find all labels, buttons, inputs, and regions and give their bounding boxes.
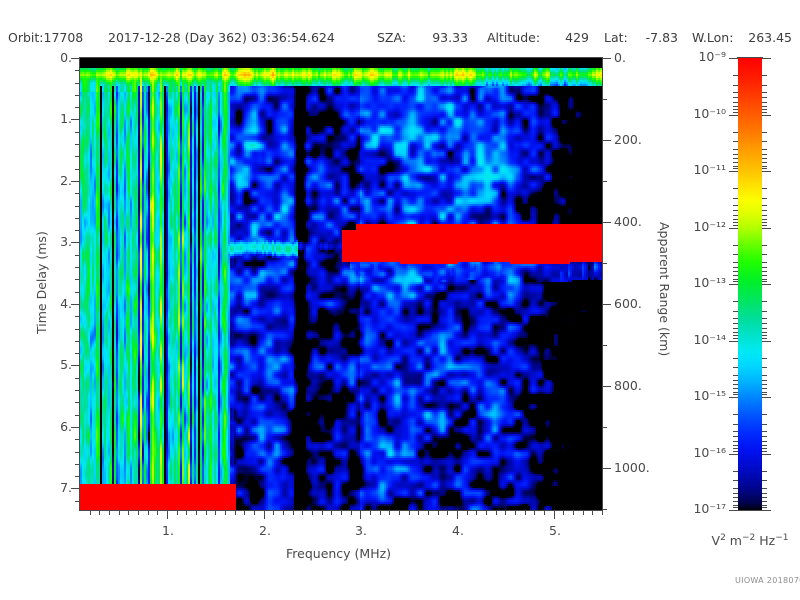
x-tick-label: 2. xyxy=(255,523,275,538)
colorbar-minor-tick-right xyxy=(762,141,767,142)
x-minor-tick xyxy=(177,510,178,515)
header-lat-value: -7.83 xyxy=(634,30,678,45)
colorbar-minor-tick-left xyxy=(733,106,738,107)
colorbar-minor-tick-right xyxy=(762,394,767,395)
header-altitude-label: Altitude: xyxy=(487,30,540,45)
x-minor-tick xyxy=(90,510,91,515)
colorbar-tick-label: 10⁻¹² xyxy=(678,219,726,234)
colorbar-minor-tick-right xyxy=(762,85,767,86)
colorbar-minor-tick-right xyxy=(762,222,767,223)
x-minor-tick xyxy=(119,510,120,515)
x-minor-tick xyxy=(602,510,603,515)
colorbar-gradient xyxy=(738,58,762,510)
colorbar-minor-tick-left xyxy=(733,262,738,263)
colorbar-major-tick-left xyxy=(729,228,738,229)
x-minor-tick xyxy=(235,510,236,515)
x-minor-tick xyxy=(99,510,100,515)
colorbar-minor-tick-left xyxy=(733,162,738,163)
colorbar-minor-tick-left xyxy=(733,75,738,76)
x-minor-tick xyxy=(476,510,477,515)
colorbar-tick-label: 10⁻¹⁴ xyxy=(678,332,726,347)
colorbar-minor-tick-left xyxy=(733,332,738,333)
y-right-tick-label: 400. xyxy=(614,214,642,229)
colorbar-minor-tick-left xyxy=(733,488,738,489)
axis-frame-right xyxy=(602,58,603,510)
x-minor-tick xyxy=(573,510,574,515)
colorbar-minor-tick-left xyxy=(733,141,738,142)
colorbar-minor-tick-left xyxy=(733,451,738,452)
y-right-major-tick xyxy=(602,386,611,387)
y-left-minor-tick xyxy=(75,439,80,440)
colorbar-minor-tick-left xyxy=(733,501,738,502)
colorbar-minor-tick-right xyxy=(762,267,767,268)
colorbar-tick-label: 10⁻⁹ xyxy=(678,49,726,64)
x-minor-tick xyxy=(283,510,284,515)
colorbar-major-tick-left xyxy=(729,510,738,511)
colorbar-minor-tick-right xyxy=(762,505,767,506)
colorbar-minor-tick-left xyxy=(733,471,738,472)
y-left-tick-label: 1. xyxy=(48,111,72,126)
colorbar-minor-tick-right xyxy=(762,507,767,508)
y-left-minor-tick xyxy=(75,292,80,293)
colorbar-minor-tick-right xyxy=(762,388,767,389)
y-left-minor-tick xyxy=(75,341,80,342)
colorbar-major-tick-left xyxy=(729,115,738,116)
x-major-tick xyxy=(167,510,168,519)
colorbar-major-tick-left xyxy=(729,454,738,455)
y-right-tick-label: 600. xyxy=(614,296,642,311)
x-minor-tick xyxy=(322,510,323,515)
colorbar-minor-tick-right xyxy=(762,367,767,368)
colorbar-minor-tick-left xyxy=(733,441,738,442)
y-left-minor-tick xyxy=(75,95,80,96)
colorbar-minor-tick-right xyxy=(762,323,767,324)
colorbar-minor-tick-left xyxy=(733,112,738,113)
colorbar-minor-tick-left xyxy=(733,367,738,368)
x-tick-label: 4. xyxy=(448,523,468,538)
colorbar-minor-tick-right xyxy=(762,245,767,246)
colorbar-minor-tick-right xyxy=(762,436,767,437)
x-minor-tick xyxy=(302,510,303,515)
x-minor-tick xyxy=(447,510,448,515)
colorbar-minor-tick-right xyxy=(762,493,767,494)
y-left-axis-title: Time Delay (ms) xyxy=(34,231,49,334)
header-datetime: 2017-12-28 (Day 362) 03:36:54.624 xyxy=(108,30,335,45)
colorbar-minor-tick-right xyxy=(762,210,767,211)
y-left-minor-tick xyxy=(75,255,80,256)
y-left-minor-tick xyxy=(75,476,80,477)
colorbar-minor-tick-right xyxy=(762,392,767,393)
colorbar-minor-tick-left xyxy=(733,384,738,385)
x-minor-tick xyxy=(148,510,149,515)
colorbar-major-tick-left xyxy=(729,171,738,172)
colorbar-major-tick-left xyxy=(729,284,738,285)
y-left-tick-label: 2. xyxy=(48,173,72,188)
colorbar-minor-tick-left xyxy=(733,311,738,312)
x-minor-tick xyxy=(515,510,516,515)
y-left-minor-tick xyxy=(75,193,80,194)
colorbar-minor-tick-right xyxy=(762,424,767,425)
colorbar-minor-tick-right xyxy=(762,328,767,329)
y-left-minor-tick xyxy=(75,107,80,108)
x-minor-tick xyxy=(157,510,158,515)
colorbar-minor-tick-right xyxy=(762,166,767,167)
colorbar-tick-label: 10⁻¹⁵ xyxy=(678,388,726,403)
colorbar-minor-tick-right xyxy=(762,75,767,76)
y-left-major-tick xyxy=(71,181,80,182)
y-right-major-tick xyxy=(602,140,611,141)
colorbar-minor-tick-left xyxy=(733,97,738,98)
colorbar-major-tick-right xyxy=(762,510,771,511)
x-minor-tick xyxy=(534,510,535,515)
colorbar-major-tick-right xyxy=(762,397,771,398)
y-left-major-tick xyxy=(71,58,80,59)
colorbar-minor-tick-right xyxy=(762,380,767,381)
y-right-major-tick xyxy=(602,58,611,59)
x-minor-tick xyxy=(273,510,274,515)
colorbar-minor-tick-left xyxy=(733,210,738,211)
colorbar-minor-tick-right xyxy=(762,154,767,155)
x-minor-tick xyxy=(418,510,419,515)
x-minor-tick xyxy=(428,510,429,515)
colorbar-minor-tick-left xyxy=(733,507,738,508)
x-minor-tick xyxy=(312,510,313,515)
y-right-minor-tick xyxy=(602,263,607,264)
y-right-major-tick xyxy=(602,468,611,469)
x-minor-tick xyxy=(399,510,400,515)
colorbar-minor-tick-right xyxy=(762,332,767,333)
x-minor-tick xyxy=(254,510,255,515)
y-right-tick-label: 800. xyxy=(614,378,642,393)
colorbar-minor-tick-left xyxy=(733,375,738,376)
x-minor-tick xyxy=(496,510,497,515)
header-lat-label: Lat: xyxy=(604,30,628,45)
x-major-tick xyxy=(457,510,458,519)
colorbar-minor-tick-left xyxy=(733,448,738,449)
radargram-plot-area xyxy=(80,58,602,510)
colorbar-minor-tick-right xyxy=(762,254,767,255)
colorbar-minor-tick-right xyxy=(762,384,767,385)
colorbar-minor-tick-left xyxy=(733,424,738,425)
colorbar-minor-tick-right xyxy=(762,448,767,449)
colorbar-tick-label: 10⁻¹⁰ xyxy=(678,106,726,121)
colorbar-minor-tick-right xyxy=(762,149,767,150)
colorbar-minor-tick-right xyxy=(762,451,767,452)
y-left-minor-tick xyxy=(75,353,80,354)
x-tick-label: 1. xyxy=(158,523,178,538)
y-left-major-tick xyxy=(71,119,80,120)
colorbar-minor-tick-left xyxy=(733,388,738,389)
x-minor-tick xyxy=(505,510,506,515)
colorbar-minor-tick-left xyxy=(733,335,738,336)
colorbar-minor-tick-right xyxy=(762,431,767,432)
colorbar-minor-tick-left xyxy=(733,328,738,329)
y-left-minor-tick xyxy=(75,230,80,231)
colorbar-major-tick-left xyxy=(729,341,738,342)
y-right-tick-label: 1000. xyxy=(614,460,650,475)
colorbar-minor-tick-right xyxy=(762,318,767,319)
colorbar-minor-tick-left xyxy=(733,85,738,86)
colorbar-major-tick-right xyxy=(762,454,771,455)
x-minor-tick xyxy=(583,510,584,515)
y-left-minor-tick xyxy=(75,70,80,71)
colorbar-minor-tick-left xyxy=(733,132,738,133)
colorbar-minor-tick-left xyxy=(733,318,738,319)
colorbar-minor-tick-left xyxy=(733,92,738,93)
colorbar-minor-tick-right xyxy=(762,97,767,98)
colorbar-minor-tick-right xyxy=(762,275,767,276)
colorbar-minor-tick-left xyxy=(733,380,738,381)
colorbar-minor-tick-right xyxy=(762,497,767,498)
y-left-minor-tick xyxy=(75,206,80,207)
colorbar-minor-tick-left xyxy=(733,445,738,446)
y-right-tick-label: 0. xyxy=(614,50,626,65)
x-minor-tick xyxy=(225,510,226,515)
credit-label: UIOWA 20180701 xyxy=(735,576,800,585)
y-left-minor-tick xyxy=(75,83,80,84)
colorbar-minor-tick-left xyxy=(733,493,738,494)
colorbar-minor-tick-right xyxy=(762,335,767,336)
y-right-axis-title: Apparent Range (km) xyxy=(657,222,672,356)
colorbar-minor-tick-right xyxy=(762,414,767,415)
colorbar-minor-tick-right xyxy=(762,375,767,376)
colorbar-tick-label: 10⁻¹¹ xyxy=(678,162,726,177)
colorbar-major-tick-right xyxy=(762,171,771,172)
y-left-major-tick xyxy=(71,304,80,305)
colorbar-tick-label: 10⁻¹³ xyxy=(678,275,726,290)
x-major-tick xyxy=(360,510,361,519)
x-minor-tick xyxy=(293,510,294,515)
colorbar-major-tick-left xyxy=(729,397,738,398)
colorbar-major-tick-right xyxy=(762,115,771,116)
y-left-tick-label: 6. xyxy=(48,419,72,434)
colorbar-minor-tick-right xyxy=(762,311,767,312)
colorbar-minor-tick-left xyxy=(733,149,738,150)
colorbar-minor-tick-left xyxy=(733,323,738,324)
x-minor-tick xyxy=(467,510,468,515)
x-tick-label: 5. xyxy=(545,523,565,538)
x-minor-tick xyxy=(341,510,342,515)
y-left-minor-tick xyxy=(75,415,80,416)
x-minor-tick xyxy=(409,510,410,515)
colorbar-minor-tick-left xyxy=(733,271,738,272)
colorbar-minor-tick-right xyxy=(762,301,767,302)
colorbar-minor-tick-left xyxy=(733,431,738,432)
header-info-bar: Orbit:17708 2017-12-28 (Day 362) 03:36:5… xyxy=(0,30,800,48)
x-minor-tick xyxy=(138,510,139,515)
colorbar-minor-tick-right xyxy=(762,488,767,489)
colorbar-minor-tick-left xyxy=(733,198,738,199)
colorbar-minor-tick-left xyxy=(733,168,738,169)
x-minor-tick xyxy=(244,510,245,515)
header-sza-label: SZA: xyxy=(377,30,406,45)
y-left-tick-label: 3. xyxy=(48,234,72,249)
colorbar-major-tick-right xyxy=(762,341,771,342)
colorbar-units-label: V2 m−2 Hz−1 xyxy=(700,533,800,548)
colorbar-minor-tick-right xyxy=(762,219,767,220)
colorbar-minor-tick-right xyxy=(762,205,767,206)
colorbar-major-tick-right xyxy=(762,228,771,229)
y-right-major-tick xyxy=(602,222,611,223)
y-right-minor-tick xyxy=(602,427,607,428)
header-altitude-value: 429 xyxy=(545,30,589,45)
spectrogram-image xyxy=(80,58,602,510)
colorbar-minor-tick-left xyxy=(733,281,738,282)
colorbar-minor-tick-left xyxy=(733,497,738,498)
x-minor-tick xyxy=(109,510,110,515)
colorbar-minor-tick-left xyxy=(733,188,738,189)
y-left-minor-tick xyxy=(75,156,80,157)
x-minor-tick xyxy=(544,510,545,515)
colorbar-minor-tick-left xyxy=(733,279,738,280)
colorbar-minor-tick-left xyxy=(733,215,738,216)
colorbar-minor-tick-right xyxy=(762,132,767,133)
colorbar-tick-label: 10⁻¹⁷ xyxy=(678,501,726,516)
colorbar-minor-tick-right xyxy=(762,358,767,359)
y-left-major-tick xyxy=(71,427,80,428)
x-axis-title: Frequency (MHz) xyxy=(286,546,391,561)
colorbar-minor-tick-right xyxy=(762,281,767,282)
header-sza-value: 93.33 xyxy=(420,30,468,45)
colorbar-tick-label: 10⁻¹⁶ xyxy=(678,445,726,460)
colorbar-minor-tick-left xyxy=(733,480,738,481)
colorbar-minor-tick-right xyxy=(762,102,767,103)
colorbar-minor-tick-left xyxy=(733,102,738,103)
colorbar-minor-tick-right xyxy=(762,162,767,163)
y-left-minor-tick xyxy=(75,169,80,170)
header-orbit: Orbit:17708 xyxy=(8,30,83,45)
y-left-tick-label: 7. xyxy=(48,480,72,495)
y-left-minor-tick xyxy=(75,218,80,219)
colorbar-minor-tick-right xyxy=(762,262,767,263)
y-left-minor-tick xyxy=(75,464,80,465)
y-left-minor-tick xyxy=(75,378,80,379)
y-left-minor-tick xyxy=(75,279,80,280)
colorbar-minor-tick-right xyxy=(762,271,767,272)
colorbar-minor-tick-right xyxy=(762,225,767,226)
colorbar-minor-tick-right xyxy=(762,109,767,110)
colorbar-minor-tick-left xyxy=(733,254,738,255)
x-major-tick xyxy=(554,510,555,519)
colorbar-minor-tick-left xyxy=(733,338,738,339)
colorbar-minor-tick-left xyxy=(733,109,738,110)
y-left-minor-tick xyxy=(75,144,80,145)
colorbar-minor-tick-right xyxy=(762,215,767,216)
colorbar-minor-tick-right xyxy=(762,445,767,446)
header-wlon-value: 263.45 xyxy=(740,30,792,45)
colorbar-minor-tick-right xyxy=(762,480,767,481)
colorbar-minor-tick-right xyxy=(762,168,767,169)
colorbar-minor-tick-right xyxy=(762,441,767,442)
x-minor-tick xyxy=(128,510,129,515)
axis-frame-top xyxy=(79,57,603,58)
y-left-minor-tick xyxy=(75,501,80,502)
y-left-minor-tick xyxy=(75,329,80,330)
x-tick-label: 3. xyxy=(351,523,371,538)
colorbar-minor-tick-left xyxy=(733,392,738,393)
x-minor-tick xyxy=(525,510,526,515)
x-minor-tick xyxy=(438,510,439,515)
axis-frame-left xyxy=(79,58,80,510)
colorbar-minor-tick-right xyxy=(762,112,767,113)
y-right-minor-tick xyxy=(602,99,607,100)
colorbar-minor-tick-left xyxy=(733,505,738,506)
colorbar-minor-tick-left xyxy=(733,358,738,359)
colorbar-minor-tick-left xyxy=(733,205,738,206)
colorbar-frame-bottom xyxy=(737,510,763,511)
colorbar-minor-tick-left xyxy=(733,222,738,223)
colorbar-minor-tick-right xyxy=(762,501,767,502)
y-left-minor-tick xyxy=(75,390,80,391)
y-left-minor-tick xyxy=(75,316,80,317)
colorbar-minor-tick-right xyxy=(762,198,767,199)
y-left-tick-label: 0. xyxy=(48,50,72,65)
colorbar-major-tick-right xyxy=(762,284,771,285)
colorbar-minor-tick-right xyxy=(762,158,767,159)
x-minor-tick xyxy=(331,510,332,515)
x-minor-tick xyxy=(389,510,390,515)
y-left-minor-tick xyxy=(75,267,80,268)
x-minor-tick xyxy=(186,510,187,515)
x-minor-tick xyxy=(196,510,197,515)
y-left-minor-tick xyxy=(75,132,80,133)
x-minor-tick xyxy=(370,510,371,515)
y-right-minor-tick xyxy=(602,345,607,346)
colorbar-minor-tick-right xyxy=(762,471,767,472)
x-minor-tick xyxy=(380,510,381,515)
colorbar-major-tick-right xyxy=(762,58,771,59)
colorbar-minor-tick-left xyxy=(733,166,738,167)
colorbar-major-tick-left xyxy=(729,58,738,59)
y-left-major-tick xyxy=(71,488,80,489)
y-right-minor-tick xyxy=(602,181,607,182)
colorbar-frame xyxy=(737,57,763,58)
y-left-major-tick xyxy=(71,365,80,366)
x-minor-tick xyxy=(592,510,593,515)
colorbar-minor-tick-right xyxy=(762,92,767,93)
colorbar-minor-tick-left xyxy=(733,219,738,220)
colorbar-minor-tick-left xyxy=(733,436,738,437)
y-left-minor-tick xyxy=(75,402,80,403)
y-left-tick-label: 5. xyxy=(48,357,72,372)
y-right-major-tick xyxy=(602,304,611,305)
colorbar-minor-tick-left xyxy=(733,225,738,226)
y-left-tick-label: 4. xyxy=(48,296,72,311)
x-major-tick xyxy=(264,510,265,519)
colorbar-minor-tick-left xyxy=(733,301,738,302)
x-minor-tick xyxy=(351,510,352,515)
colorbar-minor-tick-left xyxy=(733,414,738,415)
y-left-minor-tick xyxy=(75,452,80,453)
colorbar-minor-tick-right xyxy=(762,338,767,339)
y-right-tick-label: 200. xyxy=(614,132,642,147)
header-wlon-label: W.Lon: xyxy=(692,30,733,45)
y-left-major-tick xyxy=(71,242,80,243)
x-minor-tick xyxy=(215,510,216,515)
colorbar-minor-tick-right xyxy=(762,188,767,189)
colorbar-minor-tick-left xyxy=(733,267,738,268)
colorbar-minor-tick-left xyxy=(733,158,738,159)
colorbar-minor-tick-right xyxy=(762,279,767,280)
x-minor-tick xyxy=(486,510,487,515)
colorbar-minor-tick-right xyxy=(762,106,767,107)
colorbar-minor-tick-left xyxy=(733,245,738,246)
colorbar-minor-tick-left xyxy=(733,275,738,276)
colorbar-minor-tick-left xyxy=(733,394,738,395)
colorbar-minor-tick-left xyxy=(733,154,738,155)
x-minor-tick xyxy=(206,510,207,515)
x-minor-tick xyxy=(563,510,564,515)
